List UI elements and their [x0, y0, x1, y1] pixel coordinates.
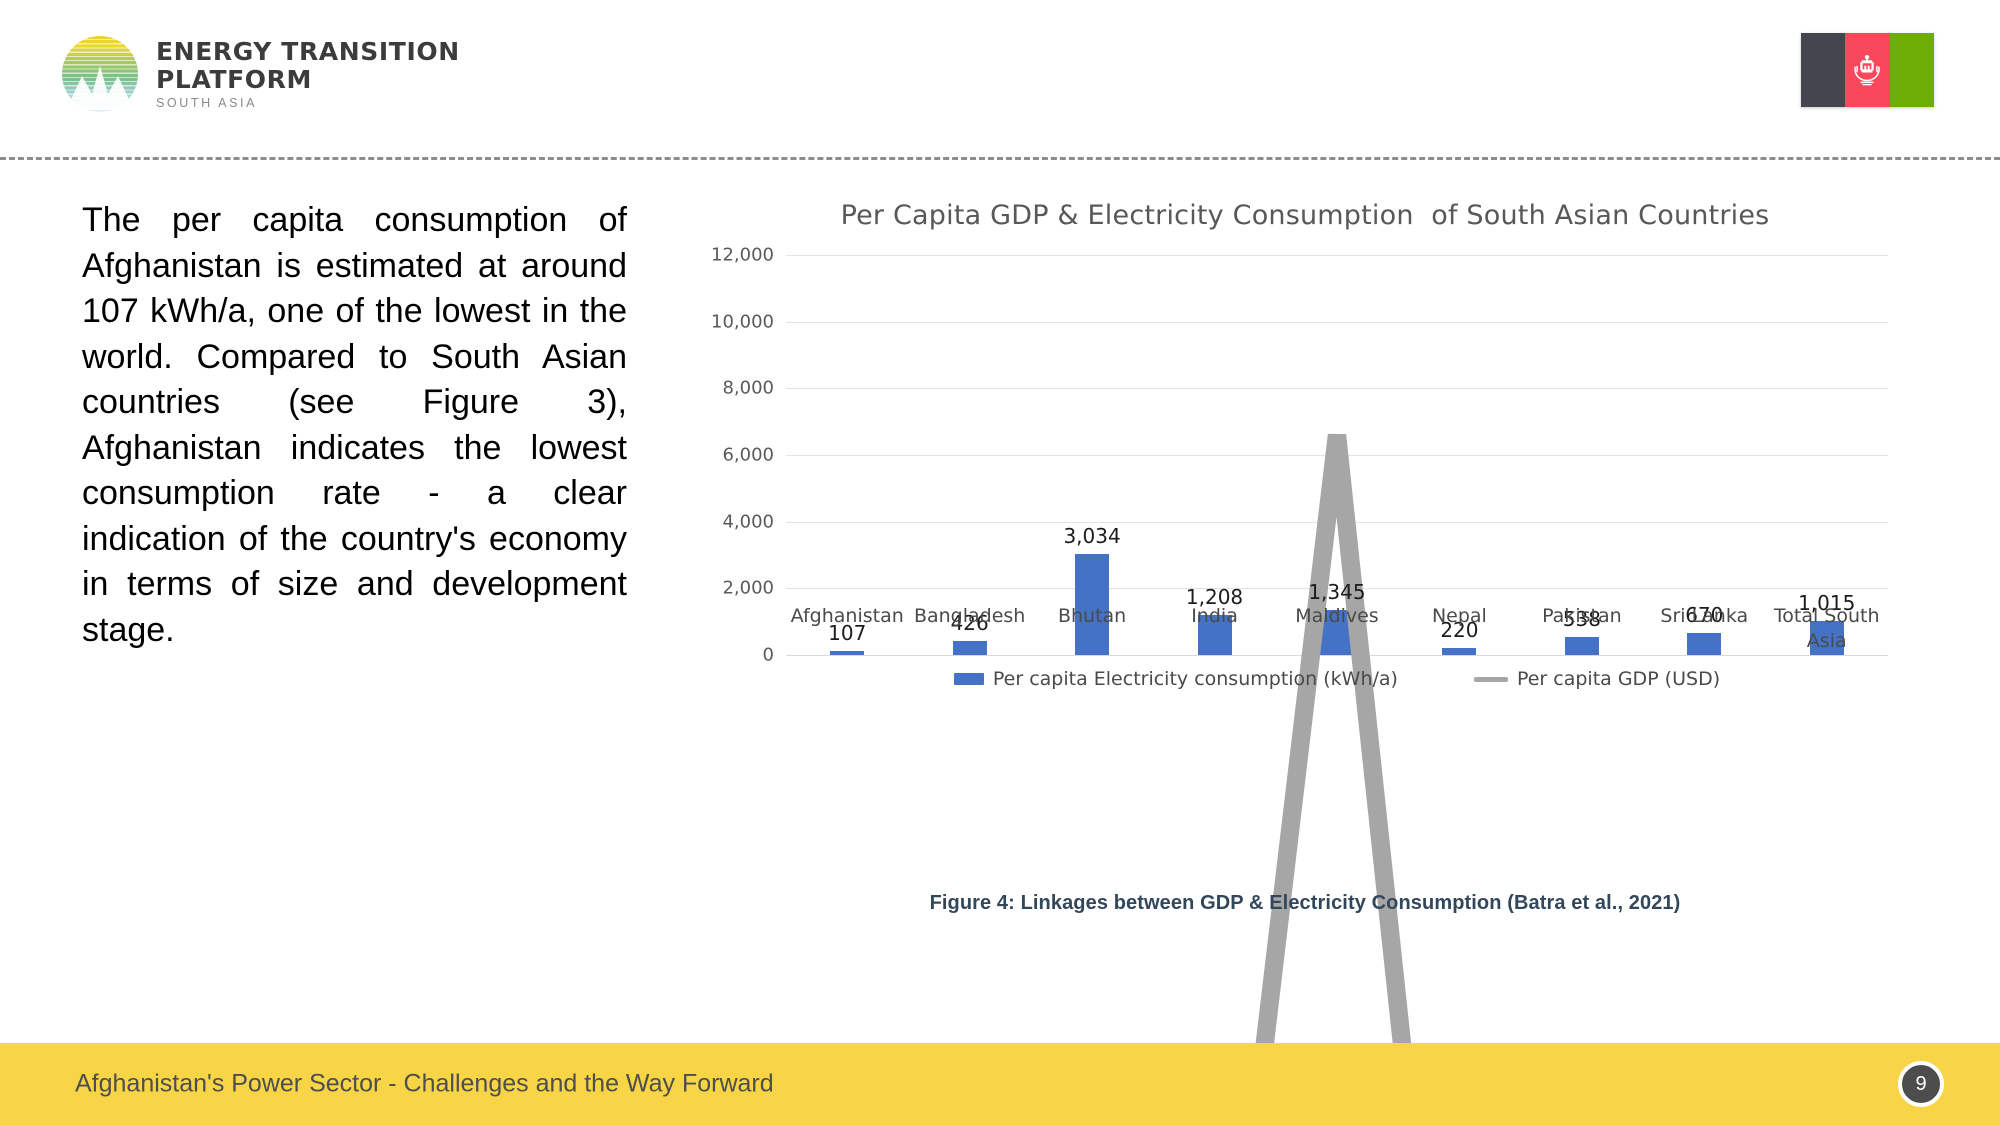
legend-item-electricity[interactable]: Per capita Electricity consumption (kWh/… — [954, 668, 1398, 690]
y-tick-label: 10,000 — [711, 311, 774, 332]
bar-label-slot: 220 — [1398, 255, 1520, 655]
y-tick-label: 12,000 — [711, 245, 774, 266]
x-axis-labels: AfghanistanBangladeshBhutanIndiaMaldives… — [786, 604, 1888, 654]
slide-header: ENERGY TRANSITION PLATFORM SOUTH ASIA — [0, 0, 2000, 158]
logo-line-1: ENERGY TRANSITION — [156, 39, 460, 64]
legend-swatch-line-icon — [1474, 677, 1508, 682]
x-tick-label: Bhutan — [1031, 604, 1153, 654]
y-axis-labels: 02,0004,0006,0008,00010,00012,000 — [700, 255, 774, 655]
legend-swatch-bar-icon — [954, 673, 984, 685]
y-tick-label: 0 — [763, 645, 774, 666]
slide-footer: Afghanistan's Power Sector - Challenges … — [0, 1043, 2000, 1125]
logo-line-3: SOUTH ASIA — [156, 97, 460, 110]
legend-label-electricity: Per capita Electricity consumption (kWh/… — [993, 668, 1398, 690]
footer-title: Afghanistan's Power Sector - Challenges … — [75, 1070, 774, 1099]
brand-logo-text: ENERGY TRANSITION PLATFORM SOUTH ASIA — [156, 39, 460, 110]
chart-legend: Per capita Electricity consumption (kWh/… — [786, 668, 1888, 690]
y-tick-label: 8,000 — [722, 378, 774, 399]
chart-container: Per Capita GDP & Electricity Consumption… — [700, 200, 1910, 860]
y-tick-label: 2,000 — [722, 578, 774, 599]
x-tick-label: Pakistan — [1521, 604, 1643, 654]
plot-canvas: 1074263,0341,2081,3452205386701,015 — [786, 255, 1888, 655]
legend-item-gdp[interactable]: Per capita GDP (USD) — [1474, 668, 1720, 690]
logo-line-2: PLATFORM — [156, 67, 460, 92]
afghanistan-flag — [1801, 33, 1934, 107]
afghanistan-emblem-icon — [1846, 49, 1888, 91]
bar-label-slot: 1,208 — [1153, 255, 1275, 655]
x-tick-label: Total SouthAsia — [1766, 604, 1888, 654]
bar-label-slot: 538 — [1521, 255, 1643, 655]
brand-logo: ENERGY TRANSITION PLATFORM SOUTH ASIA — [62, 36, 460, 112]
bar-data-labels: 1074263,0341,2081,3452205386701,015 — [786, 255, 1888, 655]
x-tick-label: Nepal — [1398, 604, 1520, 654]
y-tick-label: 4,000 — [722, 511, 774, 532]
figure-caption: Figure 4: Linkages between GDP & Electri… — [700, 892, 1910, 915]
bar-value-label: 3,034 — [1063, 524, 1120, 548]
x-tick-label: Bangladesh — [908, 604, 1030, 654]
bar-value-label: 1,345 — [1308, 580, 1365, 604]
x-tick-label: India — [1153, 604, 1275, 654]
bar-label-slot: 107 — [786, 255, 908, 655]
bar-label-slot: 670 — [1643, 255, 1765, 655]
bar-label-slot: 1,015 — [1766, 255, 1888, 655]
page-number-badge: 9 — [1898, 1061, 1944, 1107]
bar-label-slot: 426 — [908, 255, 1030, 655]
slide: ENERGY TRANSITION PLATFORM SOUTH ASIA — [0, 0, 2000, 1125]
body-paragraph: The per capita consumption of Afghanista… — [82, 198, 627, 653]
x-tick-label: Afghanistan — [786, 604, 908, 654]
chart-title: Per Capita GDP & Electricity Consumption… — [700, 200, 1910, 231]
plot-area: 02,0004,0006,0008,00010,00012,000 107426… — [700, 255, 1910, 655]
header-divider — [0, 157, 2000, 160]
sunrise-wave-logo-icon — [62, 36, 138, 112]
y-tick-label: 6,000 — [722, 445, 774, 466]
x-tick-label: Maldives — [1276, 604, 1398, 654]
bar-label-slot: 1,345 — [1276, 255, 1398, 655]
bar-label-slot: 3,034 — [1031, 255, 1153, 655]
legend-label-gdp: Per capita GDP (USD) — [1517, 668, 1720, 690]
x-tick-label: Sri Lanka — [1643, 604, 1765, 654]
